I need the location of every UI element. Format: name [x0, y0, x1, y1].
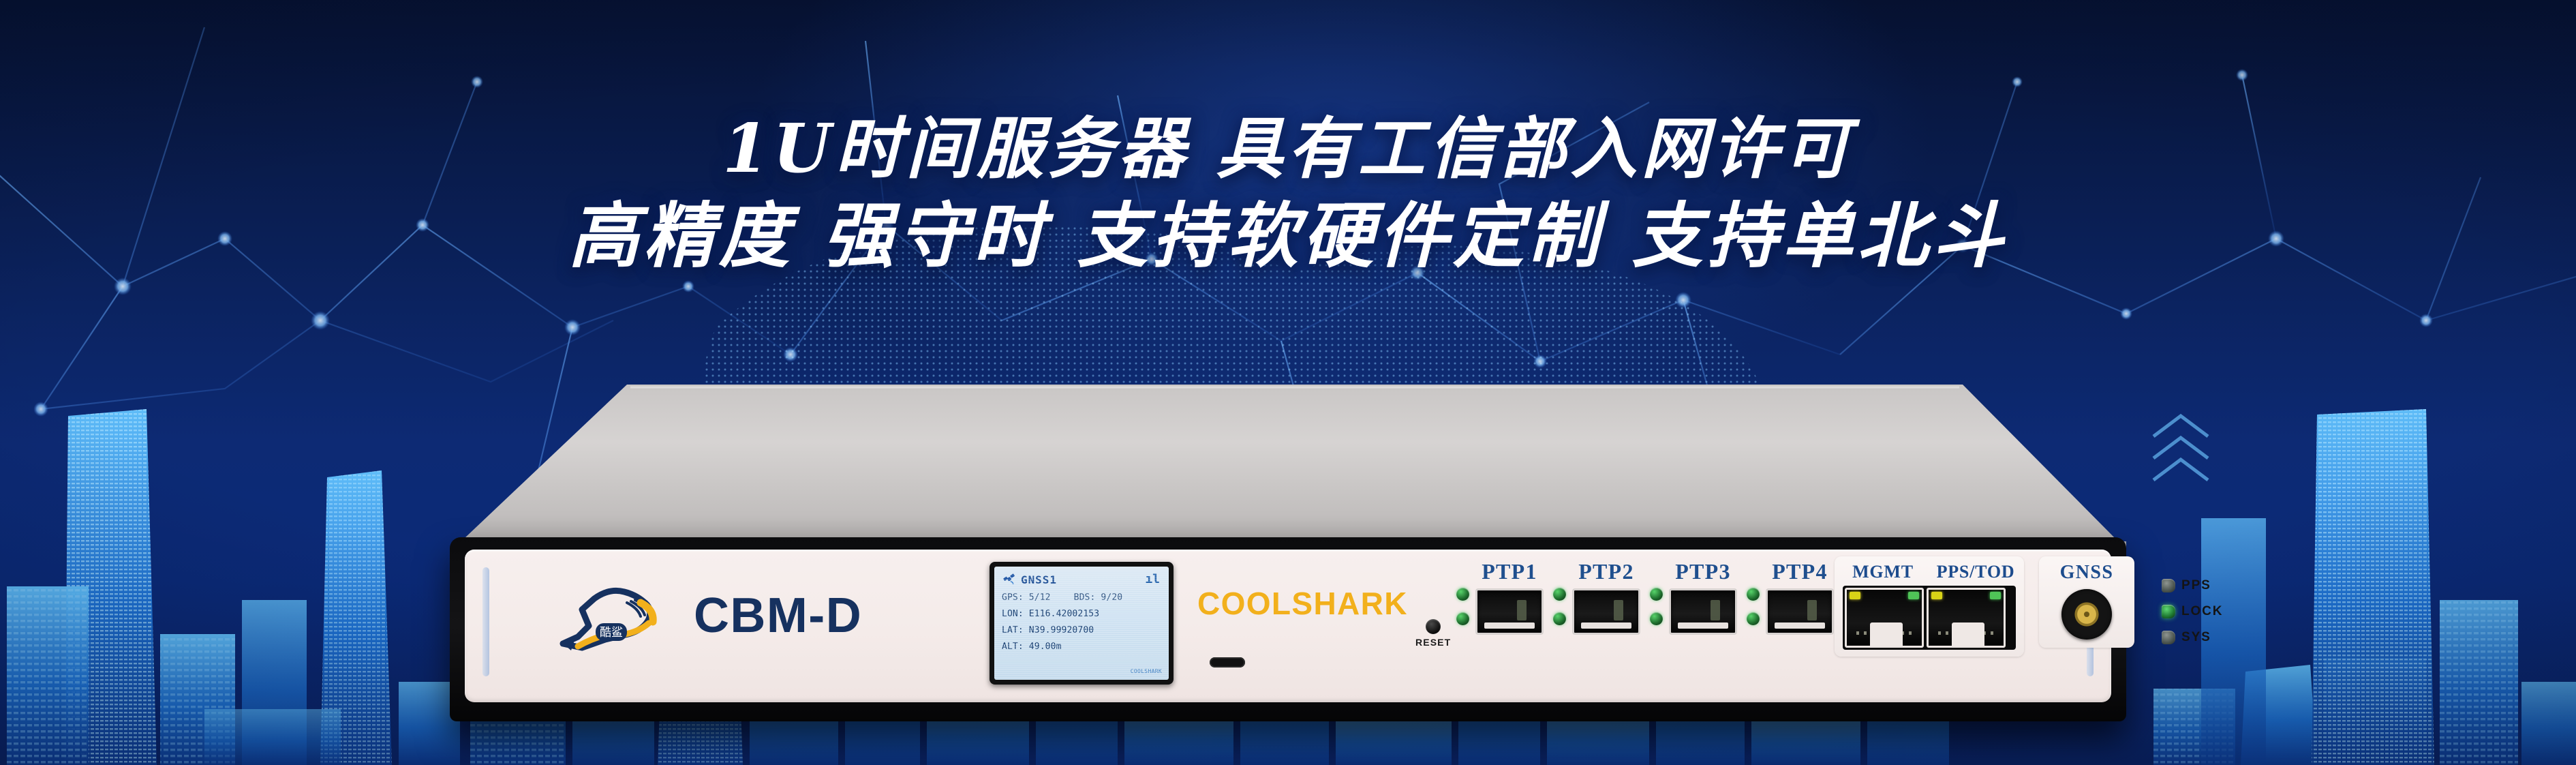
ptp-port-label: PTP2	[1572, 559, 1640, 584]
lcd-title: GNSS1	[1021, 573, 1057, 586]
reset-pinhole-icon	[1426, 619, 1441, 634]
brand-logo-block: 酷鲨 CBM-D	[547, 571, 862, 660]
product-device: 酷鲨 CBM-D	[423, 382, 2153, 743]
reset-label: RESET	[1415, 637, 1451, 648]
shark-icon: 酷鲨	[547, 571, 669, 660]
sfp-cage-icon[interactable]	[1766, 588, 1834, 635]
ptp-port-unit[interactable]: PTP1	[1456, 559, 1544, 635]
chassis-top-lid	[423, 382, 2153, 552]
ptp-port-label: PTP1	[1475, 559, 1544, 584]
front-faceplate: 酷鲨 CBM-D	[465, 550, 2111, 702]
ptp-led-pair	[1747, 588, 1760, 635]
sfp-cage-icon[interactable]	[1572, 588, 1640, 635]
usb-c-port[interactable]	[1210, 657, 1245, 667]
gnss-label: GNSS	[2039, 562, 2134, 584]
model-name: CBM-D	[694, 588, 862, 644]
sys-led-label: SYS	[2181, 630, 2211, 645]
ptp-port-label: PTP3	[1669, 559, 1737, 584]
status-led-row: LOCK	[2162, 604, 2223, 619]
ptp-led-pair	[1456, 588, 1469, 635]
mgmt-rj45-port[interactable]	[1845, 588, 1924, 648]
link-led-icon	[1650, 588, 1663, 601]
pps-tod-port-label: PPS/TOD	[1935, 562, 2016, 582]
coolshark-wordmark: COOLSHARK	[1197, 585, 1408, 622]
rj45-latch-icon	[1952, 622, 1984, 646]
product-banner: 1U时间服务器 具有工信部入网许可 高精度 强守时 支持软硬件定制 支持单北斗	[0, 0, 2576, 765]
lcd-altitude: ALT: 49.00m	[1002, 642, 1161, 652]
ptp-led-pair	[1650, 588, 1663, 635]
sys-led-icon	[2162, 631, 2175, 644]
status-led-group: PPS LOCK SYS	[2162, 578, 2223, 645]
coolshark-wordmark-block: COOLSHARK	[1197, 585, 1408, 622]
chassis-body: 酷鲨 CBM-D	[450, 537, 2126, 721]
lcd-signal-bars: ıl	[1145, 572, 1160, 586]
ptp-port-label: PTP4	[1766, 559, 1834, 584]
lock-led-label: LOCK	[2181, 604, 2223, 619]
lcd-display[interactable]: GNSS1 ıl GPS: 5/12 BDS: 9/20 LON: E116.4…	[990, 562, 1174, 685]
ptp-port-unit[interactable]: PTP3	[1650, 559, 1737, 635]
sma-connector-icon[interactable]	[2061, 589, 2112, 640]
activity-led-icon	[1456, 612, 1469, 625]
rj45-link-led-icon	[1990, 592, 2001, 599]
reset-button[interactable]: RESET	[1415, 619, 1451, 648]
ptp-port-unit[interactable]: PTP4	[1747, 559, 1834, 635]
lcd-footer-brand: COOLSHARK	[1131, 668, 1162, 674]
link-led-icon	[1747, 588, 1760, 601]
activity-led-icon	[1650, 612, 1663, 625]
sfp-cage-icon[interactable]	[1475, 588, 1544, 635]
svg-text:酷鲨: 酷鲨	[600, 626, 623, 640]
rj45-speed-led-icon	[1850, 592, 1860, 599]
rj45-speed-led-icon	[1931, 592, 1942, 599]
status-led-row: PPS	[2162, 578, 2223, 593]
lcd-gps-count: GPS: 5/12	[1002, 592, 1051, 603]
lcd-bds-count: BDS: 9/20	[1074, 592, 1123, 603]
lock-led-icon	[2162, 605, 2175, 618]
rj45-port-group: MGMT PPS/TOD	[1835, 556, 2024, 657]
rack-handle-left	[482, 567, 489, 676]
rj45-latch-icon	[1870, 622, 1903, 646]
link-led-icon	[1456, 588, 1469, 601]
status-led-row: SYS	[2162, 630, 2223, 645]
lcd-longitude: LON: E116.42002153	[1002, 609, 1161, 619]
satellite-icon	[1002, 573, 1017, 586]
gnss-connector-block[interactable]: GNSS	[2039, 556, 2134, 648]
pps-led-label: PPS	[2181, 578, 2211, 593]
mgmt-port-label: MGMT	[1843, 562, 1923, 582]
ptp-led-pair	[1553, 588, 1566, 635]
link-led-icon	[1553, 588, 1566, 601]
pps-led-icon	[2162, 579, 2175, 592]
sfp-cage-icon[interactable]	[1669, 588, 1737, 635]
pps-tod-rj45-port[interactable]	[1927, 588, 2006, 648]
lcd-latitude: LAT: N39.99920700	[1002, 625, 1161, 635]
ptp-port-group: PTP1 PTP2	[1456, 559, 1834, 635]
activity-led-icon	[1747, 612, 1760, 625]
activity-led-icon	[1553, 612, 1566, 625]
rj45-link-led-icon	[1908, 592, 1919, 599]
ptp-port-unit[interactable]: PTP2	[1553, 559, 1640, 635]
